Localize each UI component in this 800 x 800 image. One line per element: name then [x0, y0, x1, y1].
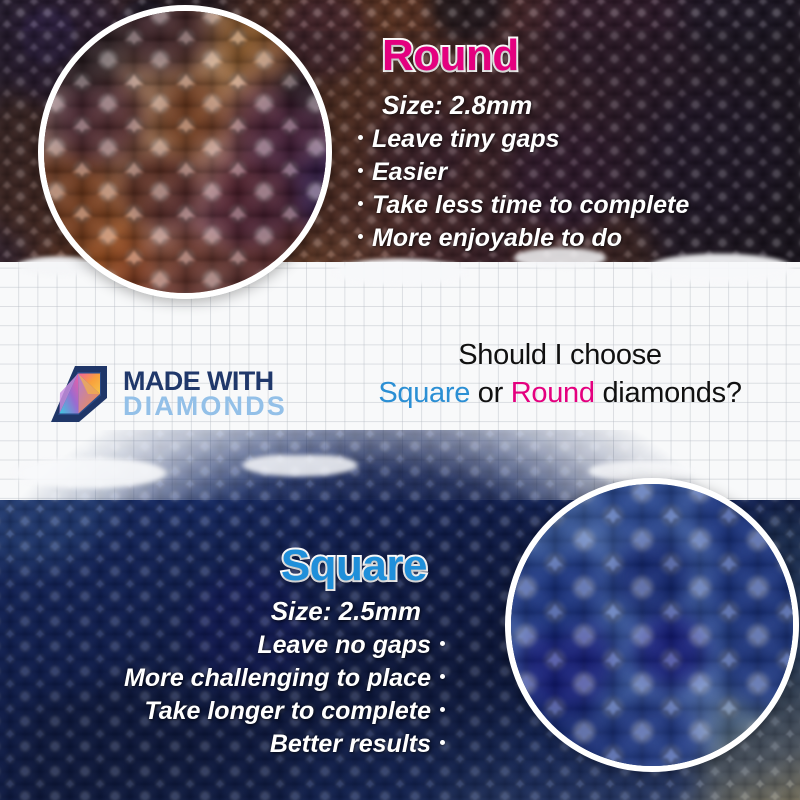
round-item-enjoyable-label: More enjoyable to do — [372, 222, 622, 255]
tagline-diamonds: diamonds? — [595, 377, 742, 409]
round-item-time-label: Take less time to complete — [372, 189, 689, 222]
round-inset-bead-texture — [38, 5, 332, 299]
brand-logo[interactable]: MADE WITH DIAMONDS — [48, 363, 287, 425]
square-heading: Square — [20, 544, 427, 588]
round-item-size-label: Size: 2.8mm — [382, 88, 532, 123]
square-item-challenging-label: More challenging to place — [124, 662, 431, 695]
center-band: MADE WITH DIAMONDS Should I choose Squar… — [0, 310, 800, 460]
square-item-gaps-label: Leave no gaps — [257, 629, 431, 662]
infographic-canvas: Round Size: 2.8mm Leave tiny gaps Easier… — [0, 0, 800, 800]
bullet-icon — [358, 234, 363, 239]
square-inset-bead-texture — [505, 478, 799, 772]
round-info-block: Round Size: 2.8mm Leave tiny gaps Easier… — [358, 34, 788, 256]
square-item-size: Size: 2.5mm — [20, 594, 421, 629]
square-item-results-label: Better results — [270, 728, 431, 761]
tagline-or: or — [470, 377, 511, 409]
bullet-icon — [440, 740, 445, 745]
tagline-line2: Square or Round diamonds? — [330, 374, 790, 412]
square-item-results: Better results — [20, 728, 445, 761]
round-item-easier-label: Easier — [372, 156, 447, 189]
square-item-size-label: Size: 2.5mm — [271, 594, 421, 629]
round-item-size: Size: 2.8mm — [382, 88, 788, 123]
square-item-longer: Take longer to complete — [20, 695, 445, 728]
bullet-icon — [358, 135, 363, 140]
round-item-gaps-label: Leave tiny gaps — [372, 123, 560, 156]
square-item-longer-label: Take longer to complete — [144, 695, 431, 728]
bullet-icon — [358, 201, 363, 206]
square-info-block: Square Size: 2.5mm Leave no gaps More ch… — [20, 544, 445, 762]
brand-name: MADE WITH DIAMONDS — [123, 369, 287, 419]
round-item-enjoyable: More enjoyable to do — [358, 222, 788, 255]
bullet-icon — [440, 674, 445, 679]
tagline: Should I choose Square or Round diamonds… — [330, 336, 790, 413]
square-diamonds-closeup-circle — [505, 478, 799, 772]
tagline-line1: Should I choose — [330, 336, 790, 374]
tagline-round-word: Round — [511, 377, 595, 409]
bullet-icon — [358, 168, 363, 173]
brand-name-line2: DIAMONDS — [123, 394, 287, 419]
round-diamonds-closeup-circle — [38, 5, 332, 299]
square-item-gaps: Leave no gaps — [20, 629, 445, 662]
bullet-icon — [440, 707, 445, 712]
diamond-gem-icon — [48, 363, 110, 425]
round-item-easier: Easier — [358, 156, 788, 189]
round-item-time: Take less time to complete — [358, 189, 788, 222]
round-item-gaps: Leave tiny gaps — [358, 123, 788, 156]
square-item-challenging: More challenging to place — [20, 662, 445, 695]
tagline-square-word: Square — [378, 377, 470, 409]
bullet-icon — [440, 641, 445, 646]
round-heading: Round — [382, 34, 788, 78]
